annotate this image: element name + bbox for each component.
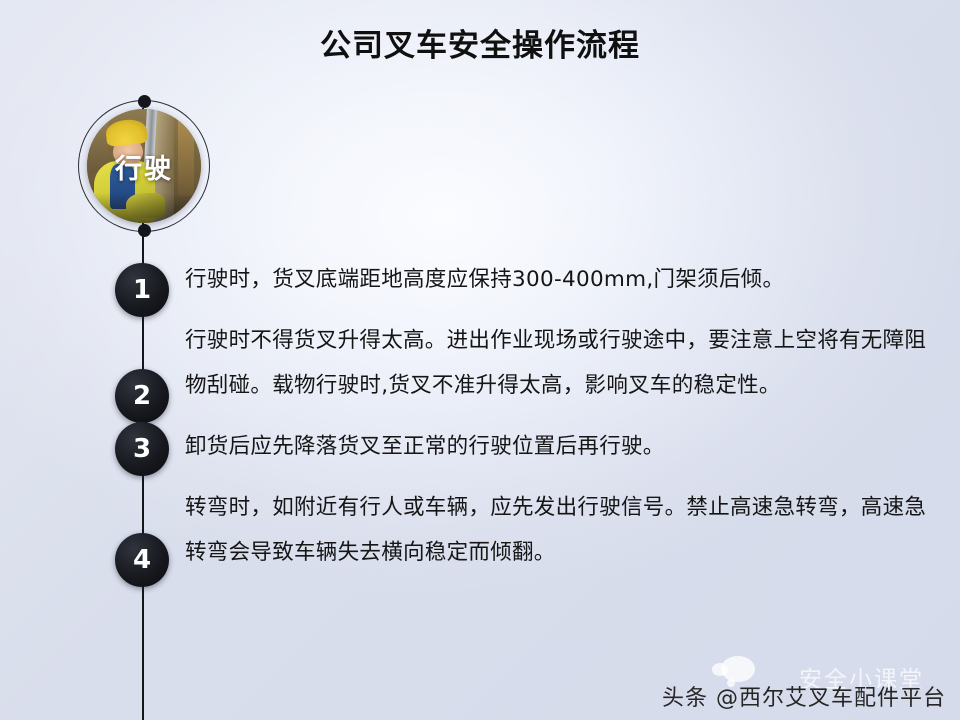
step-text: 转弯时，如附近有行人或车辆，应先发出行驶信号。禁止高速急转弯，高速急转弯会导致车…	[185, 485, 930, 575]
step-item: 4 转弯时，如附近有行人或车辆，应先发出行驶信号。禁止高速急转弯，高速急转弯会导…	[0, 485, 960, 575]
steps-list: 1 行驶时，货叉底端距地高度应保持300-400mm,门架须后倾。 2 行驶时不…	[0, 255, 960, 591]
step-item: 2 行驶时不得货叉升得太高。进出作业现场或行驶途中，要注意上空将有无障阻物刮碰。…	[0, 318, 960, 408]
step-text: 行驶时，货叉底端距地高度应保持300-400mm,门架须后倾。	[185, 255, 930, 302]
page-title: 公司叉车安全操作流程	[0, 20, 960, 65]
badge-label: 行驶	[78, 100, 210, 232]
speech-bubble-icon	[721, 656, 755, 682]
watermark-toutiao: 头条 @西尔艾叉车配件平台	[662, 680, 946, 712]
step-text: 行驶时不得货叉升得太高。进出作业现场或行驶途中，要注意上空将有无障阻物刮碰。载物…	[185, 318, 930, 408]
slide-canvas: 公司叉车安全操作流程 行驶 1 行驶时，货叉底端距地高度应保持300-400mm…	[0, 0, 960, 720]
step-number-badge: 1	[115, 263, 169, 317]
badge-dot-bottom	[138, 224, 151, 237]
badge-dot-top	[138, 95, 151, 108]
step-text: 卸货后应先降落货叉至正常的行驶位置后再行驶。	[185, 424, 930, 469]
step-item: 1 行驶时，货叉底端距地高度应保持300-400mm,门架须后倾。	[0, 255, 960, 302]
step-number-badge: 2	[115, 369, 169, 423]
step-number-badge: 3	[115, 422, 169, 476]
step-number-badge: 4	[115, 533, 169, 587]
section-badge: 行驶	[78, 100, 210, 232]
step-item: 3 卸货后应先降落货叉至正常的行驶位置后再行驶。	[0, 424, 960, 469]
